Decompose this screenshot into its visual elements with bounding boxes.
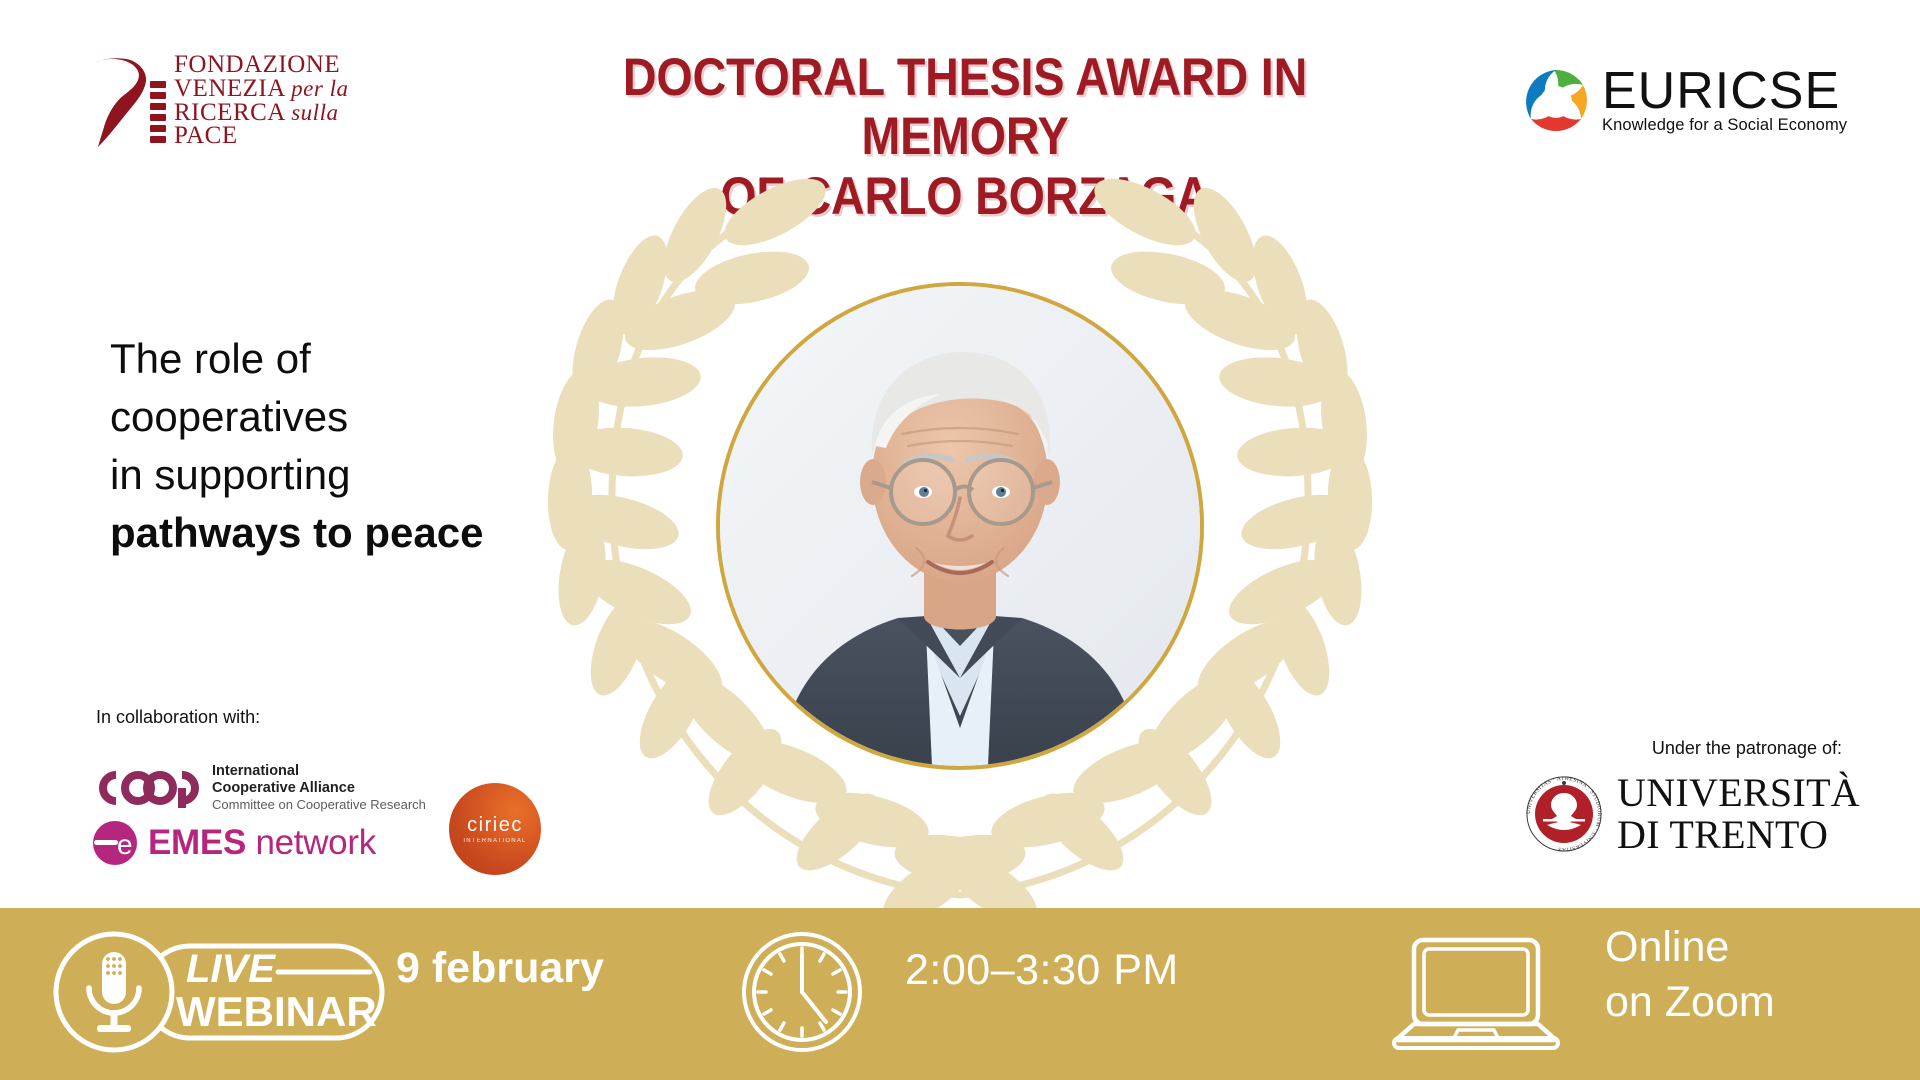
ica-wordmark: International Cooperative Alliance Commi… bbox=[212, 763, 426, 813]
fvrp-line2-italic: per la bbox=[291, 76, 348, 101]
euricse-name: EURICSE bbox=[1602, 69, 1847, 115]
location-line-1: Online bbox=[1605, 920, 1775, 975]
svg-text:WEBINAR: WEBINAR bbox=[176, 988, 377, 1035]
fvrp-line3-italic: sulla bbox=[291, 100, 338, 125]
subtitle-line-2: cooperatives bbox=[110, 388, 530, 446]
patronage-label: Under the patronage of: bbox=[1652, 738, 1842, 759]
svg-text:LIVE: LIVE bbox=[186, 947, 276, 991]
euricse-ring-icon bbox=[1520, 66, 1592, 138]
svg-text:e: e bbox=[117, 829, 133, 860]
emes-logo: e EMES network bbox=[92, 820, 376, 866]
unitn-crest-icon: · UNIVERSITAS · ATHESINA · STUDIORUM · U… bbox=[1525, 775, 1603, 853]
emes-bold: EMES bbox=[148, 823, 246, 862]
fvrp-line4: PACE bbox=[174, 122, 238, 149]
event-date: 9 february bbox=[396, 944, 604, 993]
universita-di-trento-logo: · UNIVERSITAS · ATHESINA · STUDIORUM · U… bbox=[1525, 772, 1860, 855]
subtitle-line-1: The role of bbox=[110, 330, 530, 388]
event-time: 2:00–3:30 PM bbox=[905, 946, 1179, 995]
fondazione-venezia-wordmark: FONDAZIONE VENEZIA per la RICERCA sulla … bbox=[174, 53, 348, 148]
unitn-line-1: UNIVERSITÀ bbox=[1617, 772, 1860, 814]
euricse-tagline: Knowledge for a Social Economy bbox=[1602, 116, 1847, 135]
ica-line-2: Cooperative Alliance bbox=[212, 780, 426, 797]
title-line-1: DOCTORAL THESIS AWARD IN MEMORY bbox=[521, 48, 1410, 167]
euricse-logo: EURICSE Knowledge for a Social Economy bbox=[1520, 62, 1880, 142]
event-details-bar: LIVE WEBINAR 9 february bbox=[0, 908, 1920, 1080]
euricse-wordmark: EURICSE Knowledge for a Social Economy bbox=[1602, 69, 1847, 136]
event-subtitle: The role of cooperatives in supporting p… bbox=[110, 330, 530, 562]
emes-light: network bbox=[255, 823, 375, 862]
dove-logo-icon bbox=[88, 51, 168, 151]
portrait-avatar bbox=[716, 282, 1204, 770]
emes-wordmark: EMES network bbox=[148, 823, 376, 863]
ciriec-wordmark: ciriec bbox=[467, 814, 523, 837]
live-webinar-badge: LIVE WEBINAR bbox=[40, 926, 400, 1058]
ica-line-1: International bbox=[212, 763, 426, 780]
poster-canvas: FONDAZIONE VENEZIA per la RICERCA sulla … bbox=[0, 0, 1920, 1080]
ica-line-3: Committee on Cooperative Research bbox=[212, 797, 426, 812]
ciriec-logo: ciriec INTERNATIONAL bbox=[449, 783, 541, 875]
ica-logo: International Cooperative Alliance Commi… bbox=[92, 763, 426, 813]
collaboration-label: In collaboration with: bbox=[96, 707, 260, 728]
unitn-line-2: DI TRENTO bbox=[1617, 814, 1860, 856]
coop-mark-icon bbox=[92, 767, 200, 809]
clock-icon bbox=[740, 930, 864, 1054]
ciriec-sub: INTERNATIONAL bbox=[463, 838, 526, 844]
location-line-2: on Zoom bbox=[1605, 975, 1775, 1030]
unitn-wordmark: UNIVERSITÀ DI TRENTO bbox=[1617, 772, 1860, 855]
subtitle-line-4: pathways to peace bbox=[110, 504, 530, 562]
laptop-icon bbox=[1390, 934, 1562, 1052]
emes-e-mark-icon: e bbox=[92, 820, 138, 866]
fondazione-venezia-logo: FONDAZIONE VENEZIA per la RICERCA sulla … bbox=[88, 48, 388, 153]
subtitle-line-3: in supporting bbox=[110, 446, 530, 504]
event-location: Online on Zoom bbox=[1605, 920, 1775, 1030]
